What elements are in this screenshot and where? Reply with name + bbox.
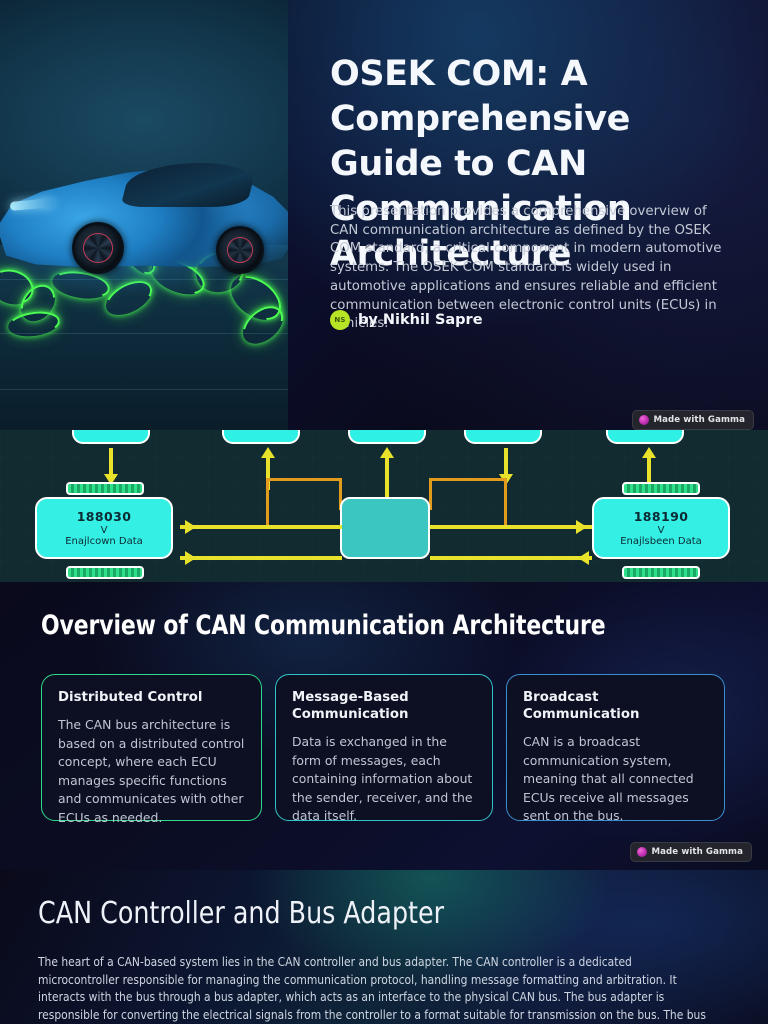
diagram-top-node [348, 430, 426, 444]
diagram-arrow-left [578, 551, 589, 565]
hero-section: OSEK COM: A Comprehensive Guide to CAN C… [0, 0, 768, 430]
author-block: NS by Nikhil Sapre [330, 310, 483, 330]
diagram-top-node [72, 430, 150, 444]
car-silhouette [0, 148, 288, 276]
avatar: NS [330, 310, 350, 330]
overview-card-broadcast-communication: Broadcast Communication CAN is a broadca… [506, 674, 725, 821]
diagram-top-node [464, 430, 542, 444]
diagram-arrow-right [576, 520, 587, 534]
diagram-bus-wire [180, 556, 342, 560]
wheel-rim [83, 233, 113, 263]
diagram-top-node [606, 430, 684, 444]
car-wheel-front [72, 222, 124, 274]
car-wheel-rear [216, 226, 264, 274]
made-with-gamma-badge[interactable]: Made with Gamma [630, 842, 753, 862]
ecu-label: Enajlsbeen Data [620, 536, 702, 547]
author-name: by Nikhil Sapre [358, 312, 483, 328]
gamma-logo-icon [639, 415, 649, 425]
hero-car-image [0, 0, 288, 430]
card-body: The CAN bus architecture is based on a d… [58, 716, 245, 827]
overview-card-list: Distributed Control The CAN bus architec… [41, 674, 725, 821]
diagram-arrow-up [642, 447, 656, 458]
section-body: The heart of a CAN-based system lies in … [38, 954, 711, 1024]
diagram-arrow-up [380, 447, 394, 458]
diagram-connector [66, 482, 144, 495]
ecu-v: V [658, 525, 665, 536]
gamma-logo-icon [637, 847, 647, 857]
car-windshield [121, 163, 258, 207]
diagram-ecu-right: 188190 V Enajlsbeen Data [592, 497, 730, 559]
can-architecture-diagram: 188030 V Enajlcown Data 188190 V Enajlsb… [0, 430, 768, 582]
overview-card-distributed-control: Distributed Control The CAN bus architec… [41, 674, 262, 821]
diagram-connector [622, 482, 700, 495]
card-title: Broadcast Communication [523, 689, 708, 723]
can-controller-section: CAN Controller and Bus Adapter The heart… [0, 870, 768, 1024]
diagram-branch-wire [266, 478, 342, 481]
ecu-v: V [101, 525, 108, 536]
diagram-branch-wire [429, 478, 507, 481]
gamma-badge-label: Made with Gamma [652, 847, 744, 857]
ecu-label: Enajlcown Data [65, 536, 143, 547]
card-body: CAN is a broadcast communication system,… [523, 733, 708, 826]
diagram-top-node [222, 430, 300, 444]
gamma-badge-label: Made with Gamma [654, 415, 746, 425]
presentation-page: OSEK COM: A Comprehensive Guide to CAN C… [0, 0, 768, 1024]
diagram-bus-wire [430, 556, 592, 560]
diagram-connector [622, 566, 700, 579]
diagram-branch-wire [504, 478, 507, 527]
overview-section: Overview of CAN Communication Architectu… [0, 582, 768, 870]
diagram-ecu-left: 188030 V Enajlcown Data [35, 497, 173, 559]
floor-line [0, 389, 288, 390]
card-title: Message-Based Communication [292, 689, 476, 723]
overview-title: Overview of CAN Communication Architectu… [41, 610, 606, 641]
diagram-bus-adapter [340, 497, 430, 559]
overview-card-message-based-communication: Message-Based Communication Data is exch… [275, 674, 493, 821]
wheel-rim [227, 237, 253, 263]
ecu-id: 188190 [634, 509, 689, 524]
diagram-connector [66, 566, 144, 579]
diagram-arrow-up [261, 447, 275, 458]
diagram-bus-wire [180, 525, 342, 529]
section-title: CAN Controller and Bus Adapter [38, 896, 444, 931]
made-with-gamma-badge[interactable]: Made with Gamma [632, 410, 755, 430]
card-title: Distributed Control [58, 689, 245, 706]
diagram-bus-wire [430, 525, 592, 529]
card-body: Data is exchanged in the form of message… [292, 733, 476, 826]
diagram-arrow-right [185, 520, 196, 534]
ecu-id: 188030 [77, 509, 132, 524]
diagram-arrow-right [185, 551, 196, 565]
diagram-branch-wire [266, 478, 269, 527]
